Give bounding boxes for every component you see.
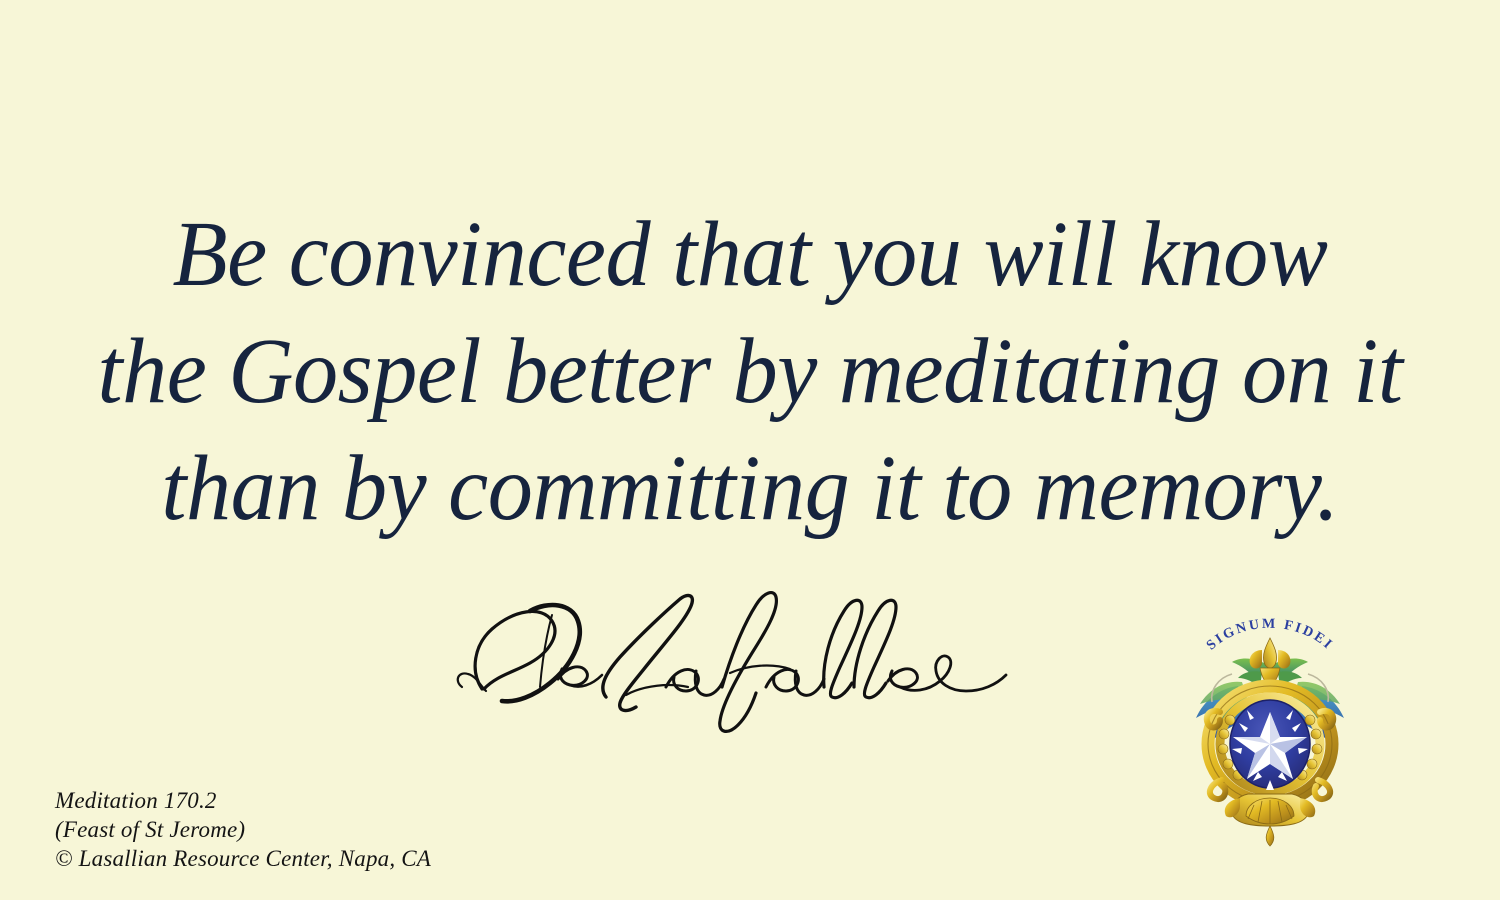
attribution-block: Meditation 170.2 (Feast of St Jerome) © … bbox=[55, 786, 431, 873]
signature-de-la-salle: De La Salle bbox=[430, 575, 1030, 740]
quote-line-1: Be convinced that you will know bbox=[23, 196, 1478, 313]
crest-shell bbox=[1225, 794, 1315, 846]
signum-fidei-crest: SIGNUM FIDEI bbox=[1176, 608, 1364, 848]
quote-card: Be convinced that you will know the Gosp… bbox=[0, 0, 1500, 900]
quote-line-3: than by committing it to memory. bbox=[23, 430, 1478, 547]
quote-line-2: the Gospel better by meditating on it bbox=[23, 313, 1478, 430]
quote-block: Be convinced that you will know the Gosp… bbox=[0, 196, 1500, 547]
attribution-feast: (Feast of St Jerome) bbox=[55, 815, 431, 844]
attribution-meditation: Meditation 170.2 bbox=[55, 786, 431, 815]
attribution-copyright: © Lasallian Resource Center, Napa, CA bbox=[55, 844, 431, 873]
